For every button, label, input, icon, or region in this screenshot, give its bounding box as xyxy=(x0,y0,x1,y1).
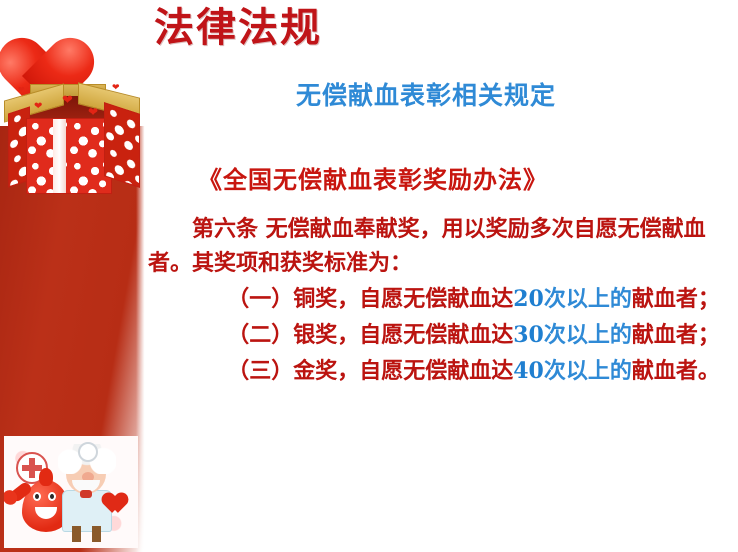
regulation-document-title: 《全国无偿献血表彰奖励办法》 xyxy=(198,160,548,195)
gift-box-heart-pattern xyxy=(105,103,139,186)
blood-donation-cartoon xyxy=(4,436,138,548)
held-heart-icon xyxy=(108,482,134,506)
text-run: 次以上的 xyxy=(544,358,632,384)
page-title: 法律法规 xyxy=(154,6,322,50)
gift-box-icon: ❤ ❤ ❤ ❤ ❤ xyxy=(4,78,140,193)
mascot-eye xyxy=(33,492,41,501)
paragraph-item-bronze: （一）铜奖，自愿无偿献血达20次以上的献血者； xyxy=(148,282,728,316)
slide-content: 法律法规 无偿献血表彰相关规定 《全国无偿献血表彰奖励办法》 第六条 无偿献血奉… xyxy=(146,0,738,552)
paragraph-item-silver: （二）银奖，自愿无偿献血达30次以上的献血者； xyxy=(148,318,728,352)
regulation-body: 第六条 无偿献血奉献奖，用以奖励多次自愿无偿献血者。其奖项和获奖标准为： （一）… xyxy=(148,212,728,388)
left-decoration-column: ❤ ❤ ❤ ❤ ❤ xyxy=(0,0,146,552)
text-run: （三）金奖，自愿无偿献血达 xyxy=(227,358,513,384)
text-run: 20 xyxy=(513,286,544,312)
text-run: （二）银奖，自愿无偿献血达 xyxy=(227,322,513,348)
doctor-leg xyxy=(92,526,101,542)
page-subtitle: 无偿献血表彰相关规定 xyxy=(296,76,556,112)
gift-box-front xyxy=(26,118,112,194)
head-mirror-icon xyxy=(78,442,98,462)
floating-heart-icon: ❤ xyxy=(34,102,42,112)
mascot-eye xyxy=(48,492,56,501)
floating-heart-icon: ❤ xyxy=(88,106,98,118)
mascot-mouth xyxy=(35,507,57,519)
text-run: 40 xyxy=(513,358,544,384)
gift-box-heart-pattern xyxy=(27,119,111,193)
doctor-leg xyxy=(72,526,81,542)
text-run: 献血者； xyxy=(632,286,720,312)
floating-heart-icon: ❤ xyxy=(62,94,73,107)
text-run: 30 xyxy=(513,322,544,348)
text-run: 第六条 无偿献血奉献奖，用以奖励多次自愿无偿献血者。其奖项和获奖标准为： xyxy=(148,216,706,276)
paragraph-article-six: 第六条 无偿献血奉献奖，用以奖励多次自愿无偿献血者。其奖项和获奖标准为： xyxy=(148,212,728,280)
gift-box-ribbon xyxy=(53,119,66,193)
paragraph-item-gold: （三）金奖，自愿无偿献血达40次以上的献血者。 xyxy=(148,354,728,388)
text-run: （一）铜奖，自愿无偿献血达 xyxy=(227,286,513,312)
floating-heart-icon: ❤ xyxy=(112,84,120,93)
text-run: 次以上的 xyxy=(544,322,632,348)
text-run: 献血者。 xyxy=(632,358,720,384)
gift-box-side-right xyxy=(104,102,140,188)
slide-canvas: ❤ ❤ ❤ ❤ ❤ 法 xyxy=(0,0,738,552)
text-run: 次以上的 xyxy=(544,286,632,312)
floating-heart-icon: ❤ xyxy=(18,86,25,94)
heart-balloon-icon xyxy=(22,2,114,82)
doctor-bowtie xyxy=(80,490,92,498)
text-run: 献血者； xyxy=(632,322,720,348)
